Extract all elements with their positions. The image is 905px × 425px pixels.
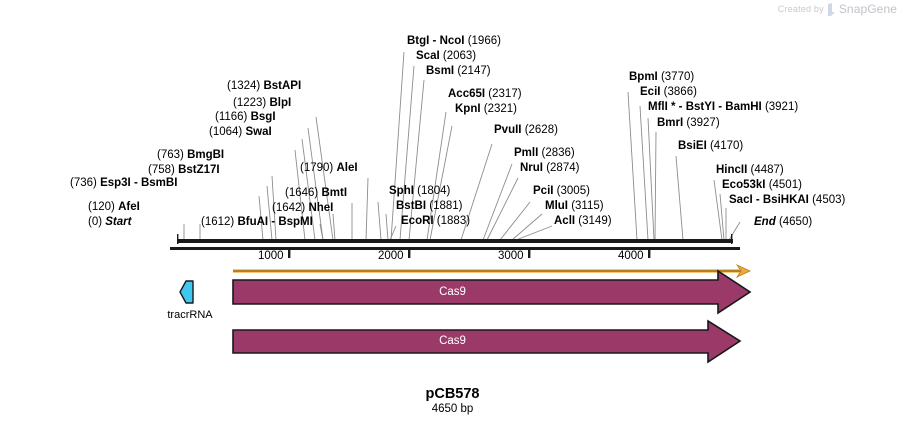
page-title: pCB578 <box>0 386 905 402</box>
coding-span-arrow[interactable] <box>233 265 750 277</box>
feature-cas9-label-1: Cas9 <box>0 286 905 298</box>
plasmid-map-canvas: Created by SnapGene <box>0 0 905 425</box>
feature-cas9-label-2: Cas9 <box>0 335 905 347</box>
plasmid-size-label: 4650 bp <box>0 403 905 415</box>
feature-track <box>0 0 905 425</box>
feature-tracrrna-label: tracrRNA <box>150 309 230 321</box>
